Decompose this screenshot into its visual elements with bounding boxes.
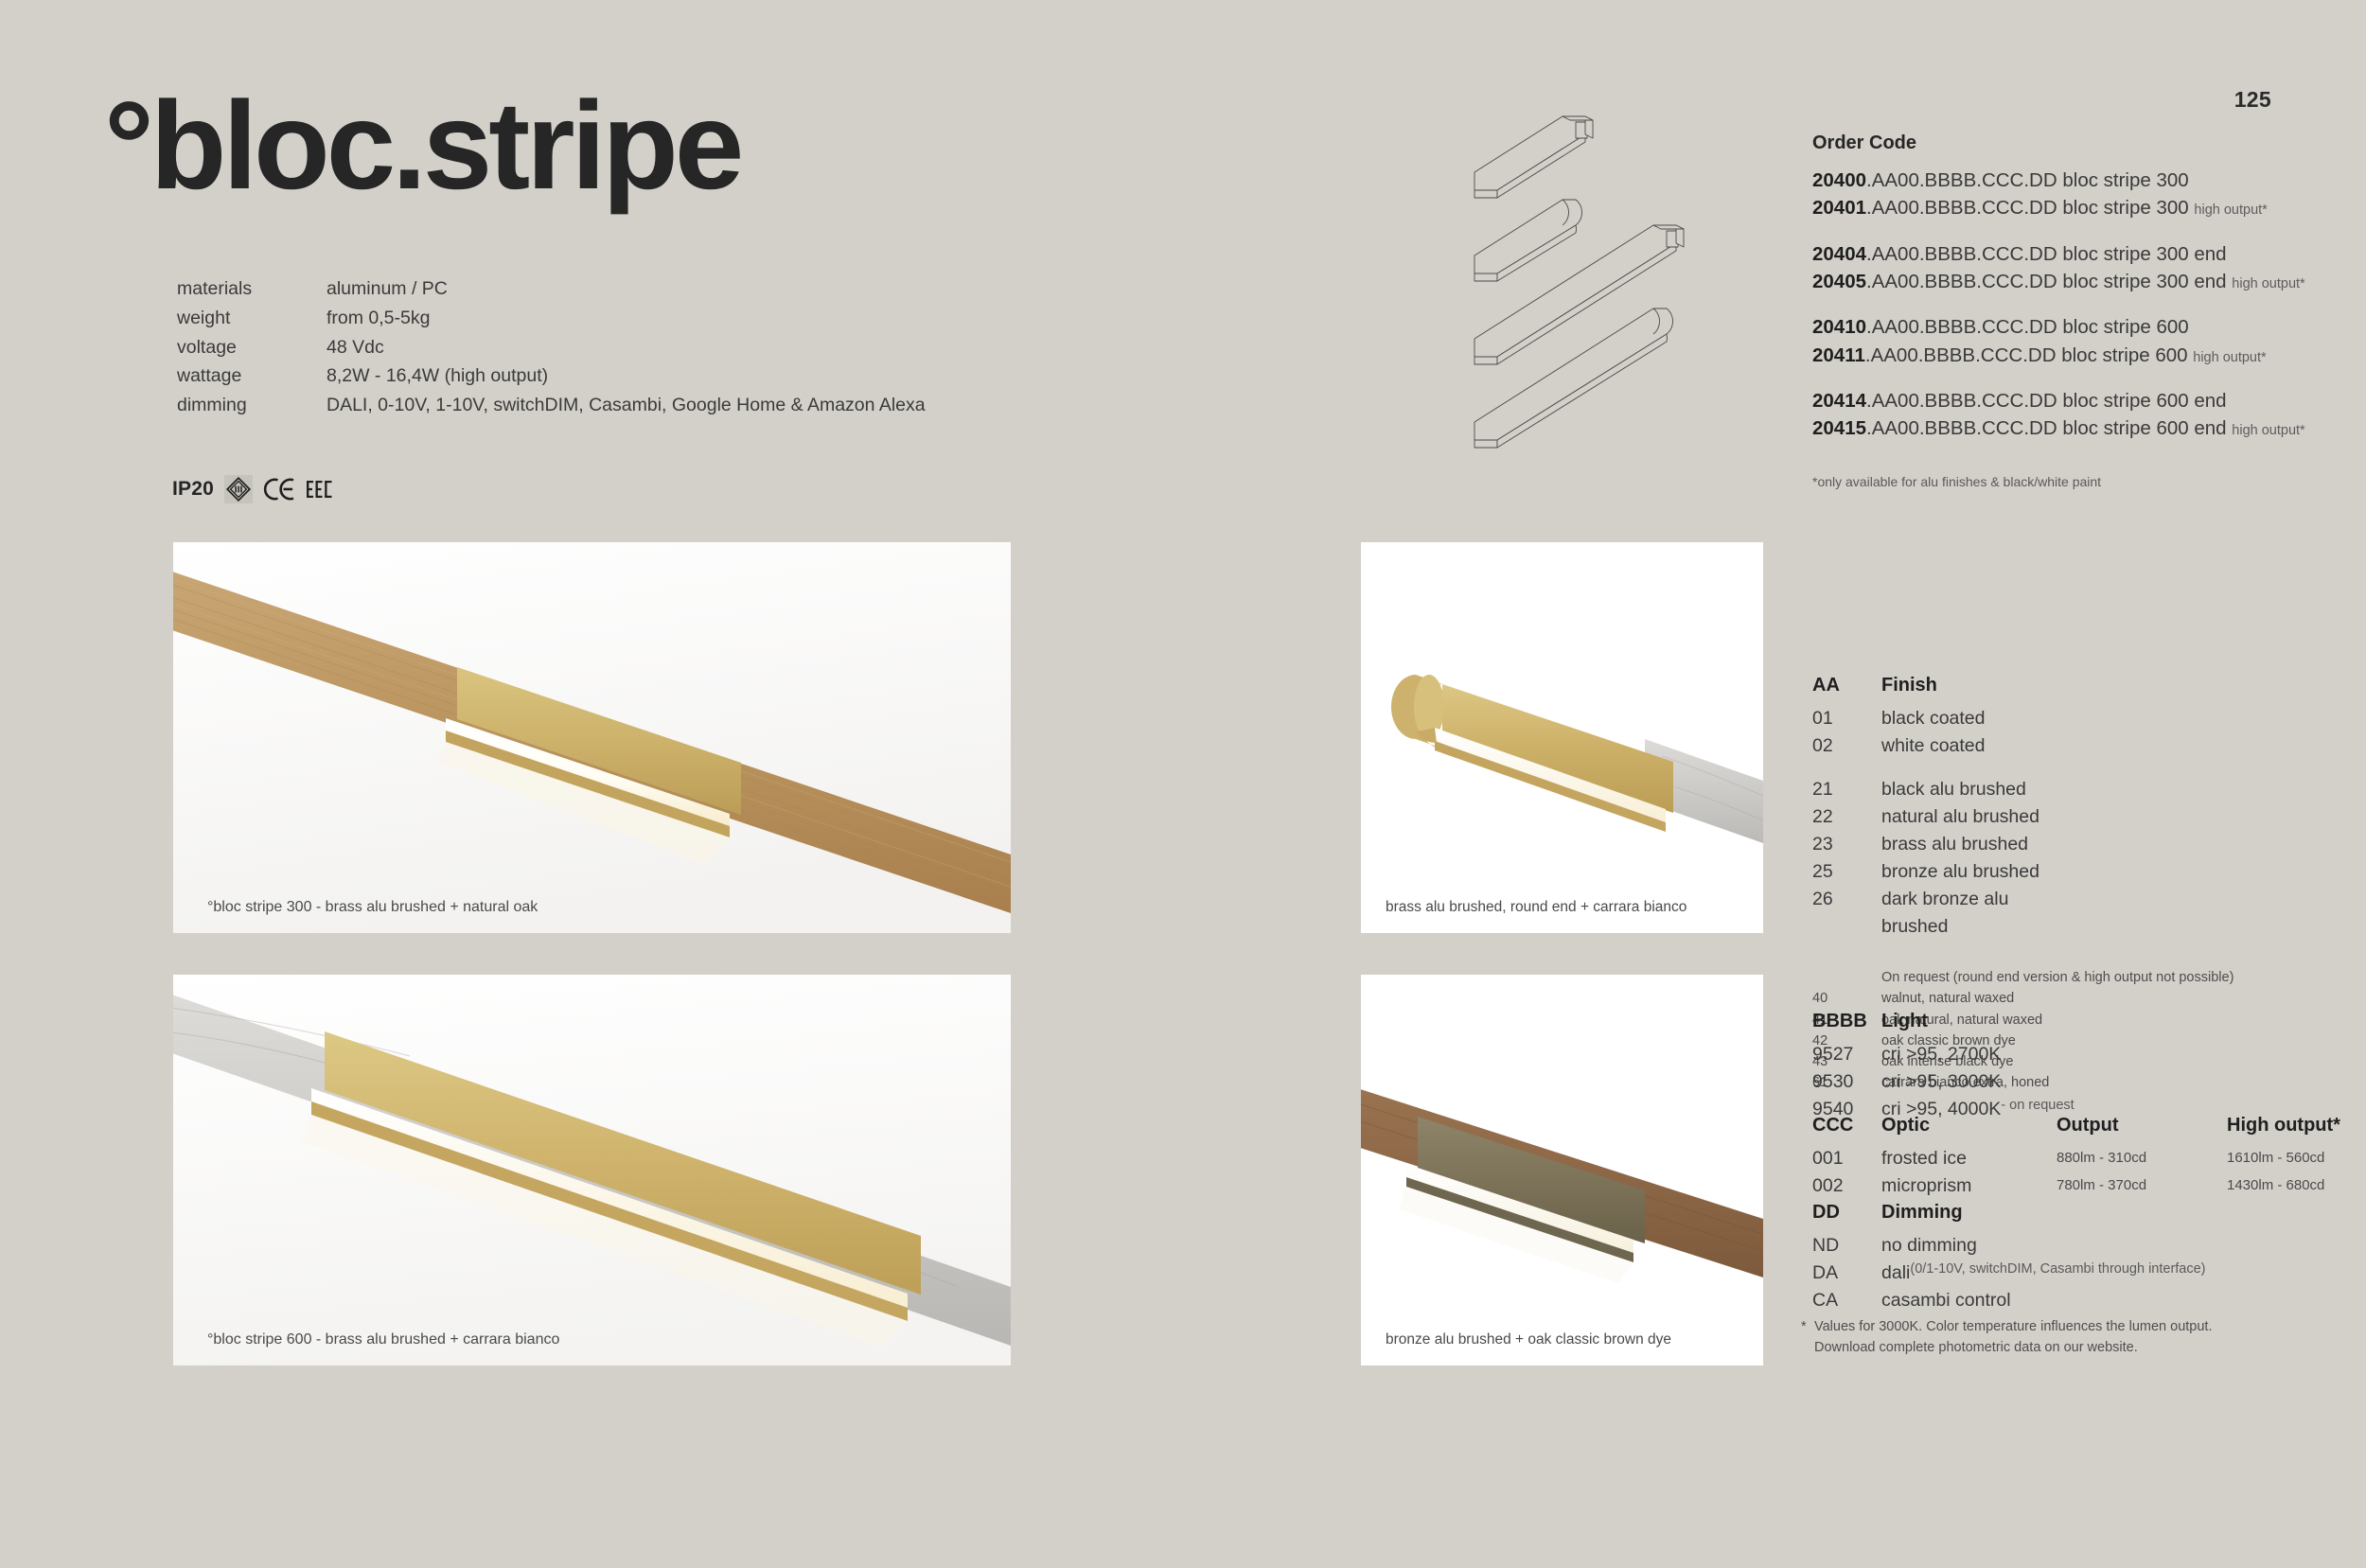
- optic-high-output: 1430lm - 680cd: [2227, 1172, 2366, 1200]
- order-code-small: high output*: [2232, 423, 2304, 438]
- footnote: * Values for 3000K. Color temperature in…: [1801, 1317, 2331, 1359]
- order-code-group: 20400.AA00.BBBB.CCC.DD bloc stripe 300 2…: [1812, 167, 2323, 222]
- finish-desc: white coated: [1881, 732, 2057, 760]
- light-row: 9527 cri >95, 2700K: [1812, 1041, 2342, 1068]
- spec-row: dimming DALI, 0-10V, 1-10V, switchDIM, C…: [177, 391, 926, 420]
- order-code-line: 20411.AA00.BBBB.CCC.DD bloc stripe 600 h…: [1812, 342, 2323, 369]
- photo-caption: bronze alu brushed + oak classic brown d…: [1386, 1331, 1671, 1348]
- optic-header-code: CCC: [1812, 1115, 1881, 1136]
- optic-code: 002: [1812, 1172, 1881, 1200]
- drawing-short-square-end: [1474, 116, 1593, 198]
- light-row: 9530 cri >95, 3000K: [1812, 1068, 2342, 1096]
- product-photo-bloc-stripe-600-carrara: °bloc stripe 600 - brass alu brushed + c…: [173, 975, 1011, 1365]
- spec-key: wattage: [177, 361, 327, 391]
- optic-desc: frosted ice: [1881, 1145, 2057, 1172]
- light-desc: cri >95, 3000K: [1881, 1068, 2001, 1096]
- dimming-row: DA dali (0/1-10V, switchDIM, Casambi thr…: [1812, 1260, 2342, 1287]
- on-request-label: On request (round end version & high out…: [1881, 970, 2342, 985]
- ce-icon: [263, 477, 295, 502]
- finish-code: 02: [1812, 732, 1881, 760]
- order-code-number: 20405: [1812, 271, 1866, 292]
- finish-desc: black coated: [1881, 705, 2057, 732]
- spacer: [1812, 760, 2342, 776]
- order-code-title: Order Code: [1812, 132, 2323, 154]
- dimming-code: ND: [1812, 1232, 1881, 1260]
- optic-table-header: CCC Optic Output High output*: [1812, 1115, 2342, 1136]
- product-photo-round-end-carrara: brass alu brushed, round end + carrara b…: [1361, 542, 1763, 933]
- finish-header-code: AA: [1812, 675, 1881, 696]
- footnote-line-2: Download complete photometric data on ou…: [1801, 1338, 2331, 1359]
- order-code-number: 20401: [1812, 197, 1866, 219]
- spec-value: DALI, 0-10V, 1-10V, switchDIM, Casambi, …: [327, 391, 926, 420]
- dimming-desc: casambi control: [1881, 1287, 2011, 1314]
- order-code-rest: .AA00.BBBB.CCC.DD bloc stripe 600: [1865, 344, 2188, 366]
- ip-rating-label: IP20: [172, 478, 214, 501]
- optic-row: 002 microprism 780lm - 370cd 1430lm - 68…: [1812, 1172, 2342, 1200]
- optic-table: CCC Optic Output High output* 001 froste…: [1812, 1115, 2342, 1200]
- dimming-table: DD Dimming ND no dimming DA dali (0/1-10…: [1812, 1202, 2342, 1314]
- finish-desc: brass alu brushed: [1881, 831, 2057, 858]
- dimming-note: (0/1-10V, switchDIM, Casambi through int…: [1910, 1260, 2205, 1287]
- dimming-row: CA casambi control: [1812, 1287, 2342, 1314]
- finish-row: 25 bronze alu brushed: [1812, 858, 2342, 886]
- order-code-block: Order Code 20400.AA00.BBBB.CCC.DD bloc s…: [1812, 132, 2323, 489]
- order-code-line: 20414.AA00.BBBB.CCC.DD bloc stripe 600 e…: [1812, 387, 2323, 414]
- photo-caption: brass alu brushed, round end + carrara b…: [1386, 899, 1686, 916]
- optic-row: 001 frosted ice 880lm - 310cd 1610lm - 5…: [1812, 1145, 2342, 1172]
- optic-header-desc: Optic: [1881, 1115, 2057, 1136]
- dimming-row: ND no dimming: [1812, 1232, 2342, 1260]
- optic-output: 780lm - 370cd: [2057, 1172, 2227, 1200]
- light-code: 9527: [1812, 1041, 1881, 1068]
- footnote-line-1: Values for 3000K. Color temperature infl…: [1801, 1317, 2331, 1338]
- dimming-desc: dali: [1881, 1260, 1910, 1287]
- class-iii-icon: [224, 475, 253, 503]
- footnote-star: *: [1801, 1317, 1807, 1338]
- finish-code: 22: [1812, 803, 1881, 831]
- page-title: °bloc.stripe: [104, 83, 740, 208]
- light-desc: cri >95, 2700K: [1881, 1041, 2001, 1068]
- finish-row: 22 natural alu brushed: [1812, 803, 2342, 831]
- certification-row: IP20: [172, 475, 334, 503]
- finish-code: 23: [1812, 831, 1881, 858]
- order-code-number: 20410: [1812, 316, 1866, 338]
- finish-row: 21 black alu brushed: [1812, 776, 2342, 803]
- spec-row: wattage 8,2W - 16,4W (high output): [177, 361, 926, 391]
- order-code-line: 20404.AA00.BBBB.CCC.DD bloc stripe 300 e…: [1812, 240, 2323, 268]
- order-code-rest: .AA00.BBBB.CCC.DD bloc stripe 300: [1866, 197, 2189, 219]
- order-code-group: 20404.AA00.BBBB.CCC.DD bloc stripe 300 e…: [1812, 240, 2323, 296]
- finish-desc: natural alu brushed: [1881, 803, 2057, 831]
- photo-caption: °bloc stripe 300 - brass alu brushed + n…: [207, 899, 538, 916]
- finish-code: 40: [1812, 988, 1881, 1009]
- order-code-small: high output*: [2193, 350, 2266, 365]
- eac-icon: [306, 478, 334, 501]
- order-code-rest: .AA00.BBBB.CCC.DD bloc stripe 600: [1866, 316, 2189, 338]
- finish-desc: dark bronze alu brushed: [1881, 886, 2057, 941]
- spec-row: materials aluminum / PC: [177, 274, 926, 304]
- order-code-small: high output*: [2194, 203, 2267, 218]
- optic-code: 001: [1812, 1145, 1881, 1172]
- finish-desc: bronze alu brushed: [1881, 858, 2057, 886]
- light-header-desc: Light: [1881, 1011, 2057, 1032]
- photo-scene: [173, 542, 1011, 933]
- light-header-code: BBBB: [1812, 1011, 1881, 1032]
- order-code-line: 20415.AA00.BBBB.CCC.DD bloc stripe 600 e…: [1812, 414, 2323, 442]
- order-code-number: 20411: [1812, 344, 1865, 366]
- order-code-line: 20400.AA00.BBBB.CCC.DD bloc stripe 300: [1812, 167, 2323, 194]
- dimming-code: DA: [1812, 1260, 1881, 1287]
- order-code-group: 20410.AA00.BBBB.CCC.DD bloc stripe 600 2…: [1812, 313, 2323, 369]
- dimming-header-desc: Dimming: [1881, 1202, 2057, 1224]
- product-photo-bronze-oak-brown: bronze alu brushed + oak classic brown d…: [1361, 975, 1763, 1365]
- finish-header-desc: Finish: [1881, 675, 2057, 696]
- order-code-number: 20414: [1812, 390, 1866, 412]
- spec-key: weight: [177, 304, 327, 333]
- spec-value: aluminum / PC: [327, 274, 448, 304]
- finish-desc: black alu brushed: [1881, 776, 2057, 803]
- order-code-line: 20410.AA00.BBBB.CCC.DD bloc stripe 600: [1812, 313, 2323, 341]
- spec-value: from 0,5-5kg: [327, 304, 430, 333]
- dimming-table-header: DD Dimming: [1812, 1202, 2342, 1224]
- photo-caption: °bloc stripe 600 - brass alu brushed + c…: [207, 1331, 559, 1348]
- dimming-code: CA: [1812, 1287, 1881, 1314]
- order-code-rest: .AA00.BBBB.CCC.DD bloc stripe 600 end: [1866, 417, 2227, 439]
- drawing-short-round-end: [1474, 200, 1581, 281]
- light-table: BBBB Light 9527 cri >95, 2700K 9530 cri …: [1812, 1011, 2342, 1123]
- finish-code: 01: [1812, 705, 1881, 732]
- order-code-rest: .AA00.BBBB.CCC.DD bloc stripe 300 end: [1866, 271, 2227, 292]
- catalog-page: 125 °bloc.stripe materials aluminum / PC…: [0, 0, 2366, 1568]
- light-table-header: BBBB Light: [1812, 1011, 2342, 1032]
- dimming-header-code: DD: [1812, 1202, 1881, 1224]
- order-code-rest: .AA00.BBBB.CCC.DD bloc stripe 300: [1866, 169, 2189, 191]
- order-code-number: 20404: [1812, 243, 1866, 265]
- spec-value: 8,2W - 16,4W (high output): [327, 361, 548, 391]
- order-code-group: 20414.AA00.BBBB.CCC.DD bloc stripe 600 e…: [1812, 387, 2323, 443]
- dimming-desc: no dimming: [1881, 1232, 1977, 1260]
- product-photo-bloc-stripe-300-oak: °bloc stripe 300 - brass alu brushed + n…: [173, 542, 1011, 933]
- finish-request-row: 40 walnut, natural waxed: [1812, 988, 2342, 1009]
- technical-drawings: [1443, 104, 1803, 454]
- photo-scene: [1361, 975, 1763, 1365]
- order-code-number: 20400: [1812, 169, 1866, 191]
- optic-header-output: Output: [2057, 1115, 2227, 1136]
- spec-row: voltage 48 Vdc: [177, 333, 926, 362]
- finish-table-header: AA Finish: [1812, 675, 2342, 696]
- finish-row: 23 brass alu brushed: [1812, 831, 2342, 858]
- page-number: 125: [2234, 87, 2271, 113]
- finish-code: 25: [1812, 858, 1881, 886]
- light-code: 9530: [1812, 1068, 1881, 1096]
- order-code-note: *only available for alu finishes & black…: [1812, 474, 2323, 489]
- spec-value: 48 Vdc: [327, 333, 384, 362]
- photo-scene: [1361, 542, 1763, 933]
- spec-key: materials: [177, 274, 327, 304]
- optic-desc: microprism: [1881, 1172, 2057, 1200]
- spec-key: voltage: [177, 333, 327, 362]
- order-code-rest: .AA00.BBBB.CCC.DD bloc stripe 300 end: [1866, 243, 2227, 265]
- finish-code: 21: [1812, 776, 1881, 803]
- order-code-line: 20401.AA00.BBBB.CCC.DD bloc stripe 300 h…: [1812, 194, 2323, 221]
- finish-desc: walnut, natural waxed: [1881, 988, 2057, 1009]
- order-code-small: high output*: [2232, 276, 2304, 291]
- finish-row: 01 black coated: [1812, 705, 2342, 732]
- optic-high-output: 1610lm - 560cd: [2227, 1145, 2366, 1172]
- finish-row: 26 dark bronze alu brushed: [1812, 886, 2342, 941]
- optic-output: 880lm - 310cd: [2057, 1145, 2227, 1172]
- finish-row: 02 white coated: [1812, 732, 2342, 760]
- specifications-table: materials aluminum / PC weight from 0,5-…: [177, 274, 926, 420]
- order-code-rest: .AA00.BBBB.CCC.DD bloc stripe 600 end: [1866, 390, 2227, 412]
- order-code-number: 20415: [1812, 417, 1866, 439]
- photo-scene: [173, 975, 1011, 1365]
- spec-row: weight from 0,5-5kg: [177, 304, 926, 333]
- finish-code: 26: [1812, 886, 1881, 941]
- optic-header-high-output: High output*: [2227, 1115, 2366, 1136]
- spec-key: dimming: [177, 391, 327, 420]
- order-code-line: 20405.AA00.BBBB.CCC.DD bloc stripe 300 e…: [1812, 268, 2323, 295]
